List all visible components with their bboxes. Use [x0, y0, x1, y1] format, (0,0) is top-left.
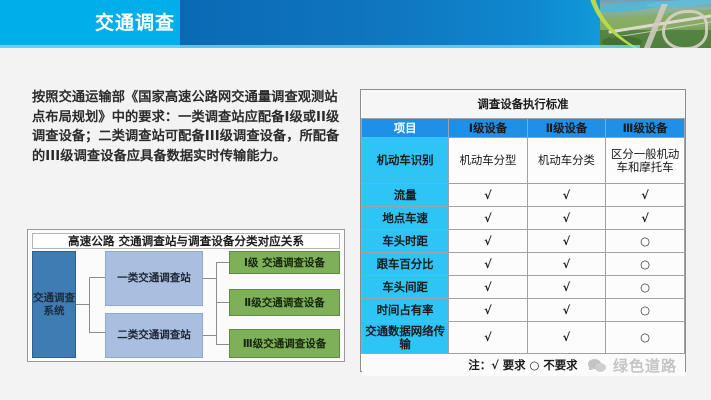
watermark: 绿色道路	[588, 355, 677, 376]
row-item-label: 时间占有率	[362, 299, 449, 322]
photo-interchange-loop	[662, 10, 708, 48]
connector-equipment-vertical	[216, 262, 217, 344]
row-item-label: 车头时距	[362, 230, 449, 253]
row-value-level1: √	[449, 276, 527, 299]
connector-to-equipment-3	[216, 344, 229, 345]
connector-to-equipment-2	[216, 302, 229, 303]
row-value-level1: √	[449, 322, 527, 354]
table-col-header-level3: Ⅲ级设备	[606, 119, 685, 138]
row-value-level1: √	[449, 230, 527, 253]
row-value-level2: 机动车分类	[527, 138, 605, 184]
connector-to-station-1	[89, 277, 105, 278]
row-value-level2: √	[527, 322, 605, 354]
row-value-level1: 机动车分型	[449, 138, 527, 184]
table-row: 流量 √ √ √	[362, 184, 685, 207]
connector-root-stem	[76, 304, 89, 305]
connector-station1-out	[203, 278, 216, 279]
header-highway-photo	[600, 0, 711, 48]
row-value-level3: ○	[606, 253, 685, 276]
row-item-label: 车头间距	[362, 276, 449, 299]
table-title-row: 调查设备执行标准	[362, 90, 685, 119]
slide-canvas: 交通调查 按照交通运输部《国家高速公路网交通量调查观测站点布局规划》中的要求：一…	[0, 0, 711, 400]
header-blue-block	[180, 0, 640, 48]
classification-diagram: 高速公路 交通调查站与调查设备分类对应关系 交通调查系统 一类交通调查站 二类交…	[27, 229, 345, 362]
diagram-body: 交通调查系统 一类交通调查站 二类交通调查站 Ⅰ级 交通调查设备 Ⅱ级交通调查设…	[32, 251, 340, 358]
connector-to-equipment-1	[216, 262, 229, 263]
page-title: 交通调查	[95, 9, 175, 37]
diagram-node-station-1: 一类交通调查站	[105, 251, 203, 306]
row-value-level2: √	[527, 184, 605, 207]
row-value-level3: √	[606, 207, 685, 230]
slide-header-banner: 交通调查	[0, 0, 711, 48]
table-row: 时间占有率 √ √ ○	[362, 299, 685, 322]
diagram-node-station-2: 二类交通调查站	[105, 313, 203, 358]
table-col-header-level1: Ⅰ级设备	[449, 119, 527, 138]
table-col-header-item: 项目	[362, 119, 449, 138]
row-item-label: 跟车百分比	[362, 253, 449, 276]
row-item-label: 地点车速	[362, 207, 449, 230]
table-row: 车头时距 √ √ ○	[362, 230, 685, 253]
watermark-label: 绿色道路	[613, 355, 677, 376]
row-value-level2: √	[527, 299, 605, 322]
row-value-level1: √	[449, 207, 527, 230]
row-value-level2: √	[527, 207, 605, 230]
connector-root-vertical	[89, 277, 90, 332]
row-value-level2: √	[527, 276, 605, 299]
table-row: 地点车速 √ √ √	[362, 207, 685, 230]
row-value-level3: ○	[606, 230, 685, 253]
table-title: 调查设备执行标准	[362, 90, 685, 119]
row-value-level3: √	[606, 184, 685, 207]
table-row: 交通数据网络传输 √ √ ○	[362, 322, 685, 354]
row-value-level3: ○	[606, 322, 685, 354]
row-item-label: 机动车识别	[362, 138, 449, 184]
standards-table: 调查设备执行标准 项目 Ⅰ级设备 Ⅱ级设备 Ⅲ级设备 机动车识别 机动车分型 机…	[361, 90, 685, 376]
row-value-level2: √	[527, 230, 605, 253]
row-value-level3: 区分一般机动车和摩托车	[606, 138, 685, 184]
diagram-title: 高速公路 交通调查站与调查设备分类对应关系	[32, 233, 340, 249]
diagram-node-equipment-1: Ⅰ级 交通调查设备	[229, 251, 340, 274]
wechat-icon	[588, 358, 608, 374]
table-header-row: 项目 Ⅰ级设备 Ⅱ级设备 Ⅲ级设备	[362, 119, 685, 138]
table-row: 跟车百分比 √ √ ○	[362, 253, 685, 276]
row-value-level1: √	[449, 184, 527, 207]
row-value-level3: ○	[606, 299, 685, 322]
diagram-node-root: 交通调查系统	[32, 251, 76, 358]
row-value-level1: √	[449, 299, 527, 322]
table-col-header-level2: Ⅱ级设备	[527, 119, 605, 138]
row-value-level1: √	[449, 253, 527, 276]
table-row: 车头间距 √ √ ○	[362, 276, 685, 299]
diagram-node-equipment-2: Ⅱ级交通调查设备	[229, 289, 340, 316]
connector-station2-out	[203, 335, 216, 336]
table-row: 机动车识别 机动车分型 机动车分类 区分一般机动车和摩托车	[362, 138, 685, 184]
header-bottom-edge-line	[0, 45, 640, 48]
row-item-label: 交通数据网络传输	[362, 322, 449, 354]
row-item-label: 流量	[362, 184, 449, 207]
body-paragraph: 按照交通运输部《国家高速公路网交通量调查观测站点布局规划》中的要求：一类调查站应…	[32, 88, 344, 166]
row-value-level3: ○	[606, 276, 685, 299]
row-value-level2: √	[527, 253, 605, 276]
standards-table-container: 调查设备执行标准 项目 Ⅰ级设备 Ⅱ级设备 Ⅲ级设备 机动车识别 机动车分型 机…	[360, 89, 686, 372]
diagram-node-equipment-3: Ⅲ级交通调查设备	[229, 329, 340, 358]
connector-to-station-2	[89, 332, 105, 333]
